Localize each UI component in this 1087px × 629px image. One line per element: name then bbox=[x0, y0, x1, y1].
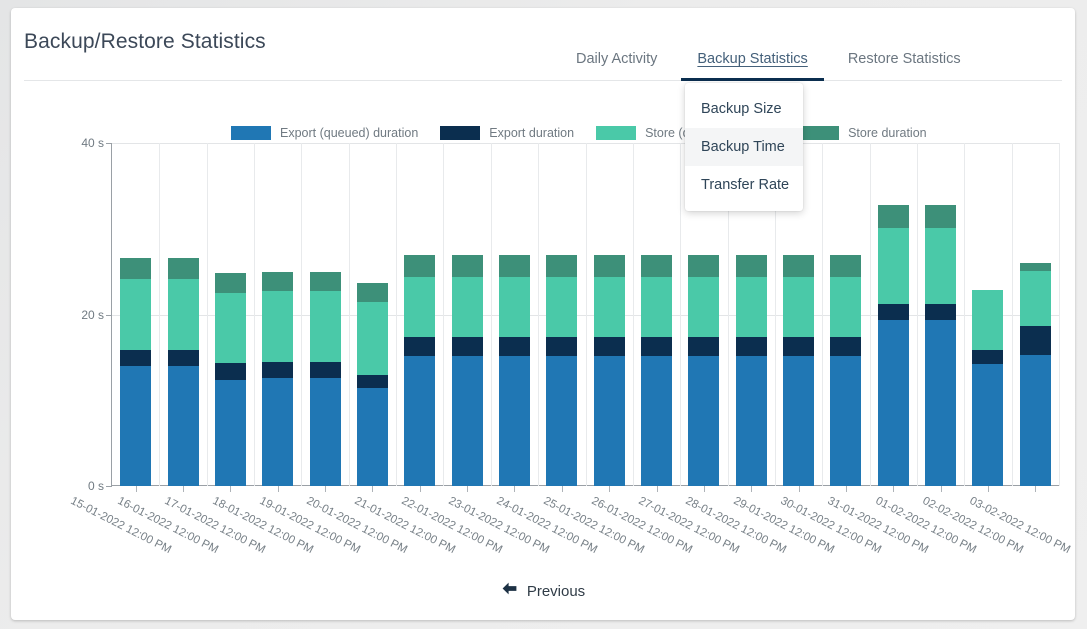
chart-bar[interactable] bbox=[499, 254, 530, 486]
bar-segment[interactable] bbox=[357, 302, 388, 376]
gridline-vertical bbox=[917, 143, 918, 486]
x-axis-tick-mark bbox=[325, 486, 326, 492]
bar-segment[interactable] bbox=[1020, 355, 1051, 486]
x-axis-tick-mark bbox=[467, 486, 468, 492]
legend-item[interactable]: Store duration bbox=[799, 126, 927, 140]
bar-segment[interactable] bbox=[688, 356, 719, 486]
bar-segment[interactable] bbox=[925, 228, 956, 304]
chart-legend: Export (queued) durationExport durationS… bbox=[231, 126, 949, 140]
legend-label: Export duration bbox=[489, 126, 574, 140]
chart-bar[interactable] bbox=[688, 254, 719, 486]
bar-segment[interactable] bbox=[215, 380, 246, 486]
legend-swatch-icon bbox=[440, 126, 480, 140]
bar-segment[interactable] bbox=[215, 363, 246, 380]
bar-segment[interactable] bbox=[168, 258, 199, 279]
bar-segment[interactable] bbox=[594, 255, 625, 277]
bar-segment[interactable] bbox=[925, 320, 956, 486]
bar-segment[interactable] bbox=[830, 255, 861, 277]
bar-segment[interactable] bbox=[736, 337, 767, 356]
backup-time-chart: 0 s20 s40 s15-01-2022 12:00 PM16-01-2022… bbox=[11, 8, 1075, 620]
bar-segment[interactable] bbox=[452, 255, 483, 277]
gridline-vertical bbox=[207, 143, 208, 486]
chart-bar[interactable] bbox=[925, 205, 956, 486]
bar-segment[interactable] bbox=[452, 356, 483, 486]
legend-swatch-icon bbox=[596, 126, 636, 140]
x-axis-tick-mark bbox=[846, 486, 847, 492]
bar-segment[interactable] bbox=[310, 291, 341, 361]
chart-bar[interactable] bbox=[878, 205, 909, 486]
dropdown-item-backup-time[interactable]: Backup Time bbox=[685, 128, 803, 166]
bar-segment[interactable] bbox=[404, 255, 435, 277]
bar-segment[interactable] bbox=[452, 337, 483, 356]
x-axis-tick-mark bbox=[704, 486, 705, 492]
bar-segment[interactable] bbox=[736, 255, 767, 277]
previous-label: Previous bbox=[527, 583, 585, 600]
bar-segment[interactable] bbox=[925, 304, 956, 319]
bar-segment[interactable] bbox=[878, 228, 909, 304]
gridline-vertical bbox=[396, 143, 397, 486]
gridline-vertical bbox=[870, 143, 871, 486]
backup-statistics-dropdown[interactable]: Backup SizeBackup TimeTransfer Rate bbox=[685, 83, 803, 211]
chart-bar[interactable] bbox=[262, 272, 293, 486]
arrow-left-icon bbox=[501, 581, 518, 601]
gridline-vertical bbox=[964, 143, 965, 486]
bar-segment[interactable] bbox=[783, 277, 814, 337]
bar-segment[interactable] bbox=[168, 279, 199, 349]
legend-label: Export (queued) duration bbox=[280, 126, 418, 140]
bar-segment[interactable] bbox=[357, 388, 388, 486]
bar-segment[interactable] bbox=[499, 356, 530, 486]
bar-segment[interactable] bbox=[499, 277, 530, 337]
x-axis-tick-mark bbox=[893, 486, 894, 492]
y-axis-tick-label: 20 s bbox=[81, 308, 112, 322]
legend-item[interactable]: Export duration bbox=[440, 126, 574, 140]
y-axis-tick-label: 40 s bbox=[81, 136, 112, 150]
bar-segment[interactable] bbox=[1020, 271, 1051, 326]
chart-bar[interactable] bbox=[452, 254, 483, 486]
bar-segment[interactable] bbox=[972, 350, 1003, 365]
bar-segment[interactable] bbox=[262, 362, 293, 378]
bar-segment[interactable] bbox=[972, 364, 1003, 486]
bar-segment[interactable] bbox=[215, 273, 246, 293]
dropdown-item-backup-size[interactable]: Backup Size bbox=[685, 90, 803, 128]
chart-bar[interactable] bbox=[783, 254, 814, 486]
chart-bar[interactable] bbox=[546, 254, 577, 486]
gridline-vertical bbox=[349, 143, 350, 486]
chart-bar[interactable] bbox=[641, 254, 672, 486]
bar-segment[interactable] bbox=[215, 293, 246, 362]
y-axis-tick-label: 0 s bbox=[88, 479, 112, 493]
bar-segment[interactable] bbox=[310, 362, 341, 378]
bar-segment[interactable] bbox=[878, 304, 909, 319]
chart-bar[interactable] bbox=[594, 254, 625, 486]
x-axis-tick-mark bbox=[562, 486, 563, 492]
chart-bar[interactable] bbox=[736, 254, 767, 486]
x-axis-tick-mark bbox=[1035, 486, 1036, 492]
x-axis-tick-mark bbox=[278, 486, 279, 492]
bar-segment[interactable] bbox=[783, 255, 814, 277]
x-axis-tick-mark bbox=[514, 486, 515, 492]
gridline-vertical bbox=[633, 143, 634, 486]
x-axis-tick-mark bbox=[609, 486, 610, 492]
bar-segment[interactable] bbox=[641, 277, 672, 337]
bar-segment[interactable] bbox=[641, 337, 672, 356]
gridline-vertical bbox=[443, 143, 444, 486]
x-axis-tick-mark bbox=[420, 486, 421, 492]
x-axis-tick-mark bbox=[183, 486, 184, 492]
statistics-card: Backup/Restore Statistics Daily Activity… bbox=[11, 8, 1075, 620]
chart-bar[interactable] bbox=[404, 254, 435, 486]
bar-segment[interactable] bbox=[262, 291, 293, 361]
bar-segment[interactable] bbox=[499, 255, 530, 277]
bar-segment[interactable] bbox=[120, 350, 151, 366]
bar-segment[interactable] bbox=[546, 255, 577, 277]
bar-segment[interactable] bbox=[404, 337, 435, 356]
bar-segment[interactable] bbox=[878, 320, 909, 486]
gridline-vertical bbox=[159, 143, 160, 486]
gridline-vertical bbox=[680, 143, 681, 486]
gridline-vertical bbox=[1012, 143, 1013, 486]
bar-segment[interactable] bbox=[783, 337, 814, 356]
bar-segment[interactable] bbox=[878, 205, 909, 228]
bar-segment[interactable] bbox=[120, 279, 151, 349]
bar-segment[interactable] bbox=[688, 337, 719, 356]
legend-swatch-icon bbox=[231, 126, 271, 140]
bar-segment[interactable] bbox=[310, 272, 341, 292]
bar-segment[interactable] bbox=[688, 277, 719, 337]
x-axis-tick-mark bbox=[941, 486, 942, 492]
bar-segment[interactable] bbox=[168, 366, 199, 486]
bar-segment[interactable] bbox=[1020, 263, 1051, 271]
bar-segment[interactable] bbox=[120, 258, 151, 279]
bar-segment[interactable] bbox=[546, 277, 577, 337]
bar-segment[interactable] bbox=[262, 272, 293, 292]
bar-segment[interactable] bbox=[594, 356, 625, 486]
bar-segment[interactable] bbox=[499, 337, 530, 356]
bar-segment[interactable] bbox=[357, 283, 388, 302]
chart-bar[interactable] bbox=[120, 258, 151, 486]
legend-label: Store duration bbox=[848, 126, 927, 140]
bar-segment[interactable] bbox=[404, 356, 435, 486]
bar-segment[interactable] bbox=[783, 356, 814, 486]
bar-segment[interactable] bbox=[830, 277, 861, 337]
chart-bar[interactable] bbox=[215, 273, 246, 486]
chart-bar[interactable] bbox=[310, 272, 341, 486]
chart-bar[interactable] bbox=[972, 290, 1003, 486]
bar-segment[interactable] bbox=[120, 366, 151, 486]
bar-segment[interactable] bbox=[641, 255, 672, 277]
dropdown-item-transfer-rate[interactable]: Transfer Rate bbox=[685, 166, 803, 204]
x-axis-tick-mark bbox=[136, 486, 137, 492]
gridline-vertical bbox=[491, 143, 492, 486]
gridline-vertical bbox=[301, 143, 302, 486]
bar-segment[interactable] bbox=[594, 277, 625, 337]
bar-segment[interactable] bbox=[736, 356, 767, 486]
previous-button[interactable]: Previous bbox=[11, 581, 1075, 601]
x-axis-tick-mark bbox=[988, 486, 989, 492]
bar-segment[interactable] bbox=[1020, 326, 1051, 355]
gridline-vertical bbox=[1059, 143, 1060, 486]
gridline-vertical bbox=[538, 143, 539, 486]
gridline-vertical bbox=[254, 143, 255, 486]
bar-segment[interactable] bbox=[830, 337, 861, 356]
chart-bar[interactable] bbox=[357, 283, 388, 486]
chart-bar[interactable] bbox=[168, 258, 199, 486]
x-axis-tick-mark bbox=[372, 486, 373, 492]
bar-segment[interactable] bbox=[688, 255, 719, 277]
bar-segment[interactable] bbox=[357, 375, 388, 388]
bar-segment[interactable] bbox=[546, 337, 577, 356]
bar-segment[interactable] bbox=[452, 277, 483, 337]
x-axis-tick-mark bbox=[751, 486, 752, 492]
x-axis-tick-mark bbox=[230, 486, 231, 492]
legend-swatch-icon bbox=[799, 126, 839, 140]
bar-segment[interactable] bbox=[546, 356, 577, 486]
bar-segment[interactable] bbox=[925, 205, 956, 228]
bar-segment[interactable] bbox=[404, 277, 435, 337]
bar-segment[interactable] bbox=[168, 350, 199, 366]
bar-segment[interactable] bbox=[736, 277, 767, 337]
chart-bar[interactable] bbox=[1020, 263, 1051, 486]
bar-segment[interactable] bbox=[830, 356, 861, 486]
x-axis-tick-mark bbox=[799, 486, 800, 492]
bar-segment[interactable] bbox=[641, 356, 672, 486]
bar-segment[interactable] bbox=[594, 337, 625, 356]
bar-segment[interactable] bbox=[310, 378, 341, 486]
gridline-vertical bbox=[822, 143, 823, 486]
bar-segment[interactable] bbox=[262, 378, 293, 486]
x-axis-tick-mark bbox=[657, 486, 658, 492]
legend-item[interactable]: Export (queued) duration bbox=[231, 126, 418, 140]
chart-bar[interactable] bbox=[830, 254, 861, 486]
chart-plot-area: 0 s20 s40 s15-01-2022 12:00 PM16-01-2022… bbox=[111, 143, 1059, 486]
bar-segment[interactable] bbox=[972, 290, 1003, 350]
gridline-vertical bbox=[586, 143, 587, 486]
screen: Backup/Restore Statistics Daily Activity… bbox=[0, 0, 1087, 629]
